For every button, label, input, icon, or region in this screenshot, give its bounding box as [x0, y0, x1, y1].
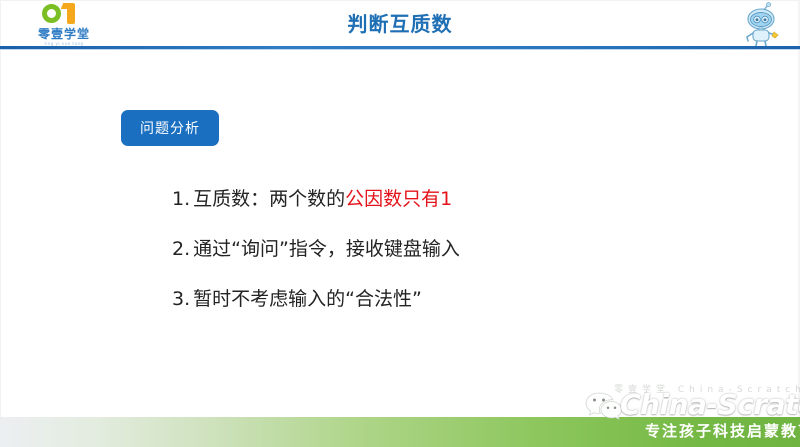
blue-robot-mascot-icon [737, 2, 787, 47]
page-title: 判断互质数 [0, 11, 800, 37]
bullet-highlight: 公因数只有1 [345, 188, 452, 210]
bullet-number: 1. [172, 188, 190, 210]
presentation-slide: 零壹学堂 ling yi xue tang 判断互质数 [0, 0, 800, 447]
slide-header: 零壹学堂 ling yi xue tang 判断互质数 [0, 0, 800, 50]
wechat-icon [583, 389, 623, 423]
list-item: 3.暂时不考虑输入的“合法性” [172, 286, 732, 312]
watermark-tagline: 专注孩子科技启蒙教育 [645, 421, 800, 441]
bullet-number: 2. [172, 238, 190, 260]
section-chip-label: 问题分析 [140, 118, 200, 138]
bullet-text: 暂时不考虑输入的“合法性” [193, 288, 422, 310]
watermark-brand: China-Scratch [620, 389, 800, 421]
bullet-list: 1.互质数：两个数的公因数只有1 2.通过“询问”指令，接收键盘输入 3.暂时不… [172, 186, 732, 336]
list-item: 2.通过“询问”指令，接收键盘输入 [172, 236, 732, 262]
list-item: 1.互质数：两个数的公因数只有1 [172, 186, 732, 212]
bullet-text: 通过“询问”指令，接收键盘输入 [193, 238, 460, 260]
bullet-number: 3. [172, 288, 190, 310]
header-divider-soft [0, 49, 800, 50]
bullet-text: 互质数：两个数的 [193, 188, 345, 210]
section-chip-problem-analysis: 问题分析 [121, 110, 219, 146]
